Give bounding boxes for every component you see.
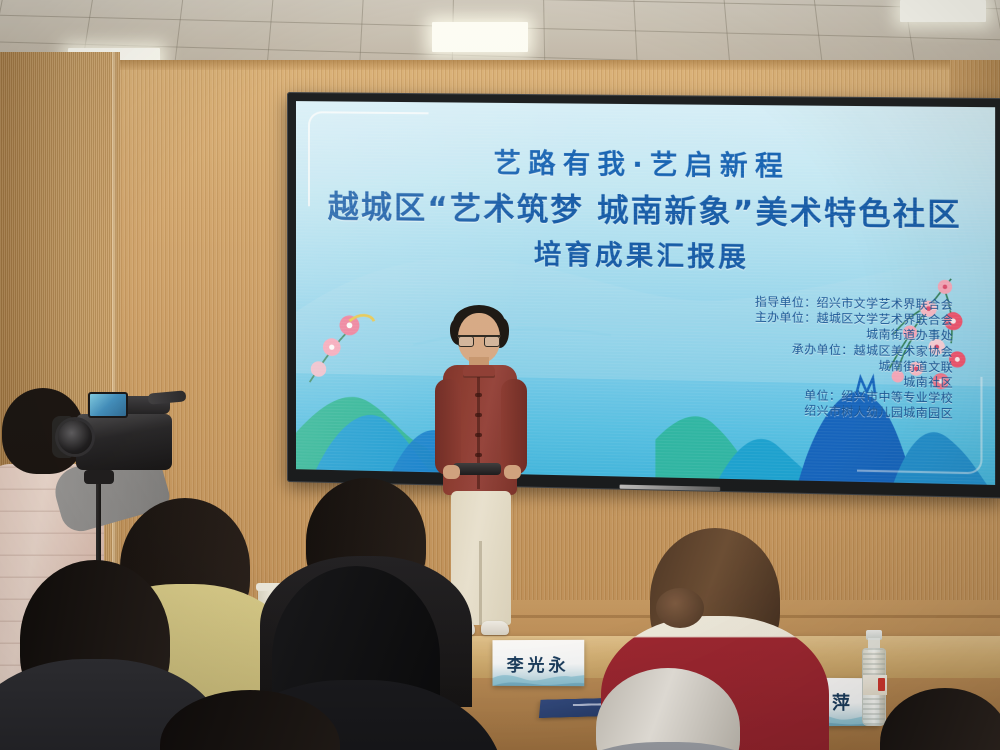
screen-title-line1: 艺路有我·艺启新程 [296,139,995,186]
camera-microphone [148,390,187,404]
ceiling-light-panel [900,0,986,22]
jacket-button [475,393,482,397]
screen-title-line2: 越城区“艺术筑梦 城南新象”美术特色社区 [296,181,995,235]
bottle-label [863,675,887,695]
credit-label: 指导单位： [755,294,817,310]
credit-value: 越城区美术家协会 [854,342,953,359]
placard-name-text: 李光永 [507,650,570,675]
audience-member [20,560,170,720]
credit-value: 绍兴市树人幼儿园城南园区 [804,404,953,423]
credit-value: 越城区文学艺术界联合会 [817,311,954,329]
screen-content: 艺路有我·艺启新程 越城区“艺术筑梦 城南新象”美术特色社区 培育成果汇报展 指… [296,101,995,485]
credit-value: 城南社区 [903,374,953,391]
plum-blossom-left-icon [303,300,385,390]
jacket-button [475,433,482,437]
jacket-button [475,453,482,457]
video-camera [62,390,187,482]
credit-value: 城南街道文联 [878,358,953,375]
presenter-shoe [481,621,509,635]
placard-name-text: 萍 [832,689,854,715]
audience-hair-bun-knot [656,588,704,628]
credit-label: 承办单位： [792,341,854,358]
led-display-screen[interactable]: 艺路有我·艺启新程 越城区“艺术筑梦 城南新象”美术特色社区 培育成果汇报展 指… [287,92,1000,499]
presenter-left-hand [443,465,460,479]
jacket-button [475,413,482,417]
screen-organizer-credits: 指导单位：绍兴市文学艺术界联合会主办单位：越城区文学艺术界联合会城南街道办事处承… [755,294,953,422]
credit-label: 单位： [804,388,841,404]
trouser-seam [479,541,482,625]
name-placard: 李光永 [492,640,584,686]
wall-trim [0,60,1000,70]
presenter-left-arm [435,379,461,475]
camera-lcd-screen [88,392,128,418]
bottle-body [862,648,886,726]
credit-label: 主办单位： [755,310,817,327]
presenter-right-hand [504,465,521,479]
water-bottle [862,630,886,726]
presenter-right-arm [501,379,527,475]
glasses-icon [457,335,501,345]
credit-value: 城南街道办事处 [866,327,953,344]
conference-room-scene: 艺路有我·艺启新程 越城区“艺术筑梦 城南新象”美术特色社区 培育成果汇报展 指… [0,0,1000,750]
credit-row: 主办单位：越城区文学艺术界联合会 [755,310,953,329]
ceiling-light-panel [432,22,528,52]
camera-lens [58,420,92,454]
presenter-remote [453,463,501,475]
